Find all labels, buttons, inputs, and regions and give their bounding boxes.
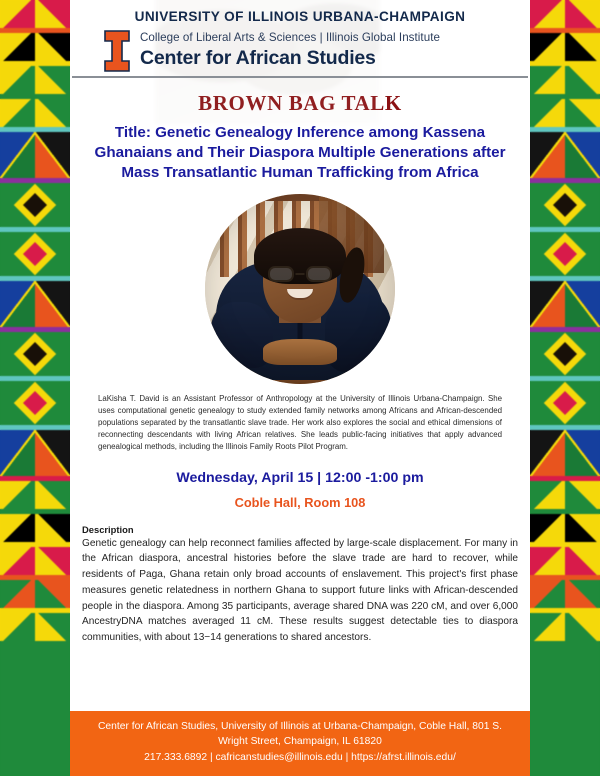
description-block: Description Genetic genealogy can help r… — [82, 524, 518, 646]
footer-contact[interactable]: 217.333.6892 | cafricanstudies@illinois.… — [90, 751, 510, 766]
kente-border-right — [530, 0, 600, 776]
brand-row: College of Liberal Arts & Sciences | Ill… — [70, 24, 530, 72]
speaker-bio: LaKisha T. David is an Assistant Profess… — [98, 393, 502, 453]
speaker-portrait — [205, 194, 395, 384]
portrait-container — [70, 194, 530, 384]
description-body: Genetic genealogy can help reconnect fam… — [82, 536, 518, 646]
flyer-footer: Center for African Studies, University o… — [70, 711, 530, 776]
kente-border-left — [0, 0, 70, 776]
university-name: UNIVERSITY OF ILLINOIS URBANA-CHAMPAIGN — [70, 9, 530, 24]
series-title: BROWN BAG TALK — [70, 91, 530, 116]
event-flyer: UNIVERSITY OF ILLINOIS URBANA-CHAMPAIGN … — [0, 0, 600, 776]
flyer-header: UNIVERSITY OF ILLINOIS URBANA-CHAMPAIGN … — [70, 0, 530, 78]
footer-address: Center for African Studies, University o… — [90, 720, 510, 749]
event-location: Coble Hall, Room 108 — [70, 495, 530, 510]
description-heading: Description — [82, 524, 518, 535]
talk-title: Title: Genetic Genealogy Inference among… — [84, 123, 516, 184]
event-datetime: Wednesday, April 15 | 12:00 -1:00 pm — [70, 470, 530, 486]
header-divider — [72, 76, 528, 78]
illinois-block-i-icon — [103, 30, 131, 72]
flyer-content: UNIVERSITY OF ILLINOIS URBANA-CHAMPAIGN … — [70, 0, 530, 776]
college-name: College of Liberal Arts & Sciences | Ill… — [140, 31, 440, 44]
center-name: Center for African Studies — [140, 47, 440, 70]
